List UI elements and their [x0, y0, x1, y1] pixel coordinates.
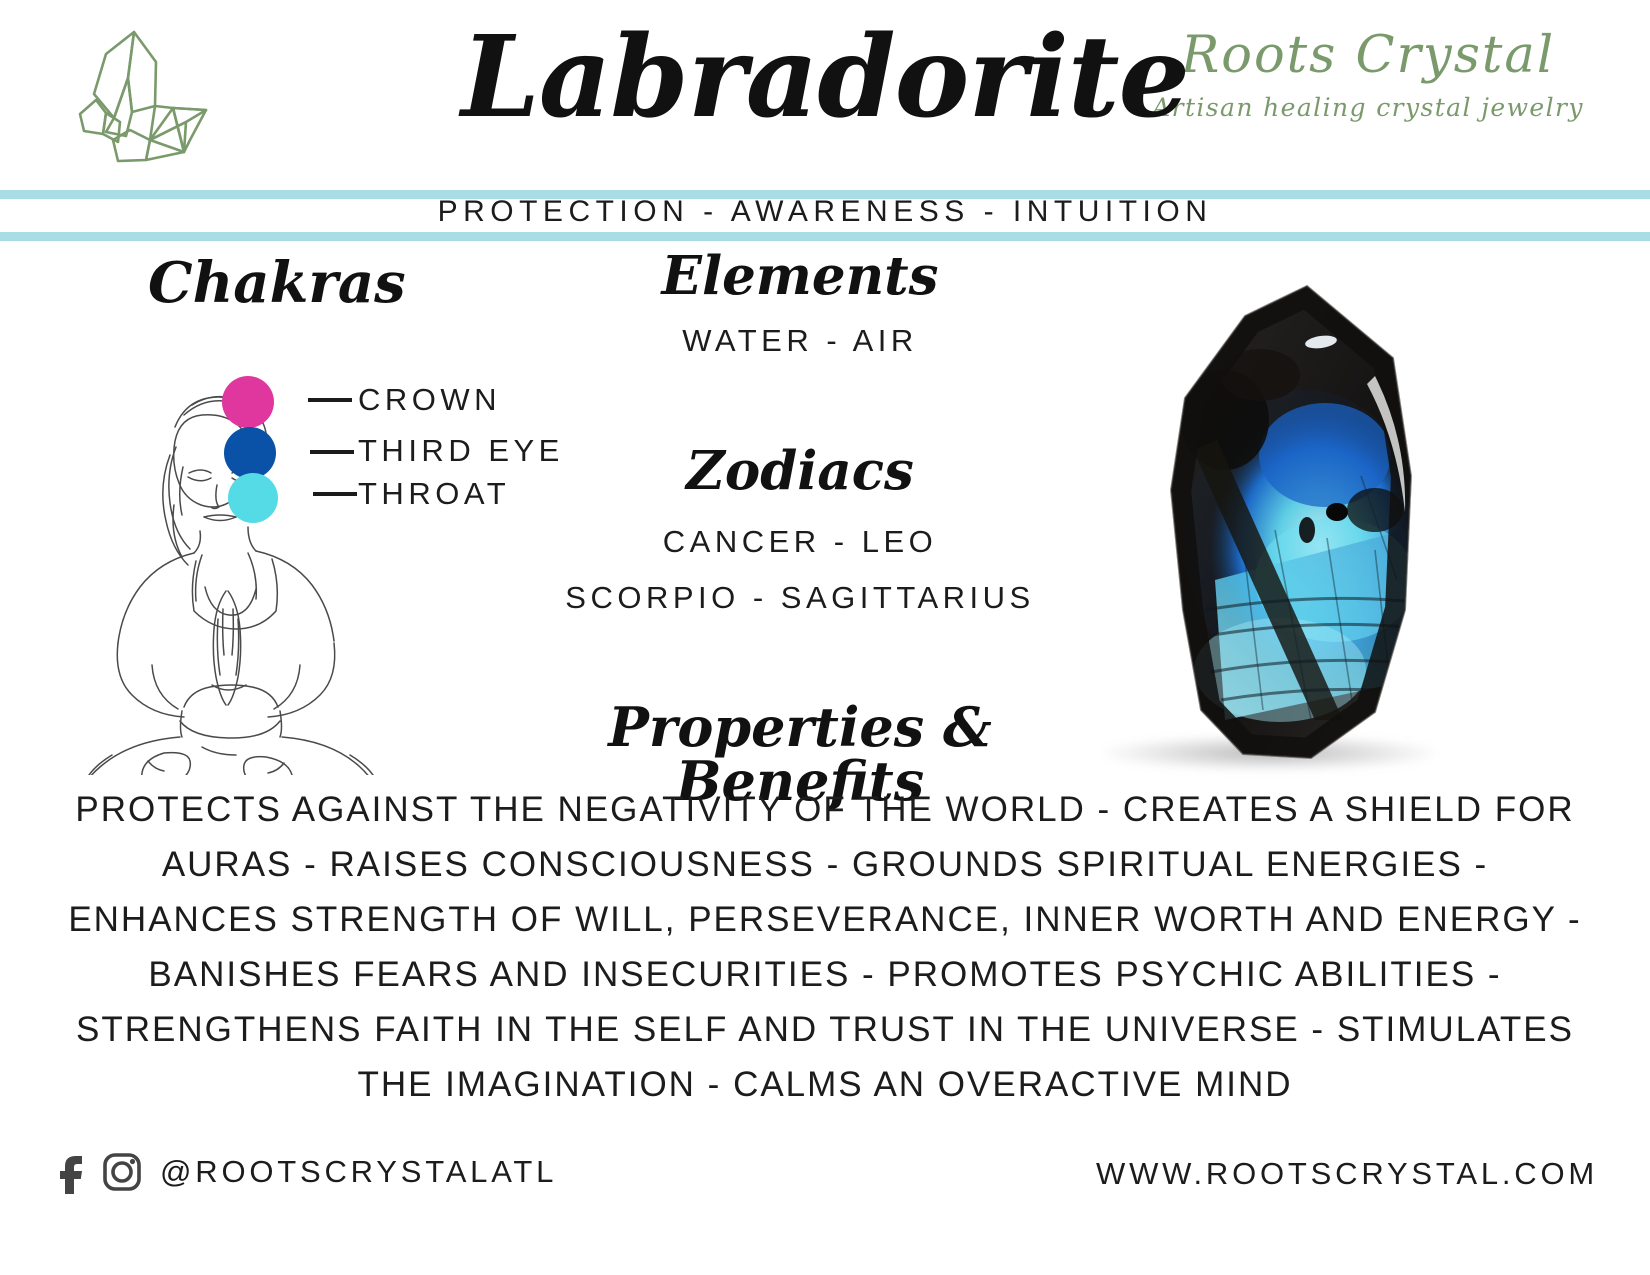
page-title: Labradorite [0, 14, 1650, 143]
chakra-dot-crown [222, 376, 274, 428]
chakras-heading: Chakras [148, 250, 406, 316]
chakra-leader-line-throat [313, 492, 357, 496]
chakra-leader-line-third-eye [310, 450, 354, 454]
chakra-label-throat: THROAT [358, 476, 510, 512]
zodiacs-line-1: CANCER - LEO [520, 524, 1080, 560]
instagram-icon[interactable] [100, 1150, 144, 1194]
social-footer: @ROOTSCRYSTALATL [58, 1150, 557, 1194]
zodiacs-line-2: SCORPIO - SAGITTARIUS [520, 580, 1080, 616]
chakra-dot-third-eye [224, 427, 276, 479]
chakra-leader-line-crown [308, 398, 352, 402]
facebook-icon[interactable] [58, 1150, 84, 1194]
elements-heading: Elements [520, 250, 1080, 303]
zodiacs-heading: Zodiacs [520, 445, 1080, 498]
elements-value: WATER - AIR [520, 323, 1080, 359]
chakra-dot-throat [228, 473, 278, 523]
properties-text: PROTECTS AGAINST THE NEGATIVITY OF THE W… [60, 782, 1590, 1112]
crystal-info-card: Roots Crystal Artisan healing crystal je… [0, 0, 1650, 1275]
instagram-handle[interactable]: @ROOTSCRYSTALATL [160, 1154, 557, 1190]
website-url[interactable]: WWW.ROOTSCRYSTAL.COM [1096, 1156, 1598, 1192]
labradorite-stone-photo [1075, 280, 1465, 780]
elements-zodiacs-column: Elements WATER - AIR Zodiacs CANCER - LE… [520, 250, 1080, 616]
keywords-line: PROTECTION - AWARENESS - INTUITION [0, 191, 1650, 232]
meditating-woman-icon [52, 355, 382, 775]
chakra-label-crown: CROWN [358, 382, 501, 418]
divider-bottom [0, 232, 1650, 241]
